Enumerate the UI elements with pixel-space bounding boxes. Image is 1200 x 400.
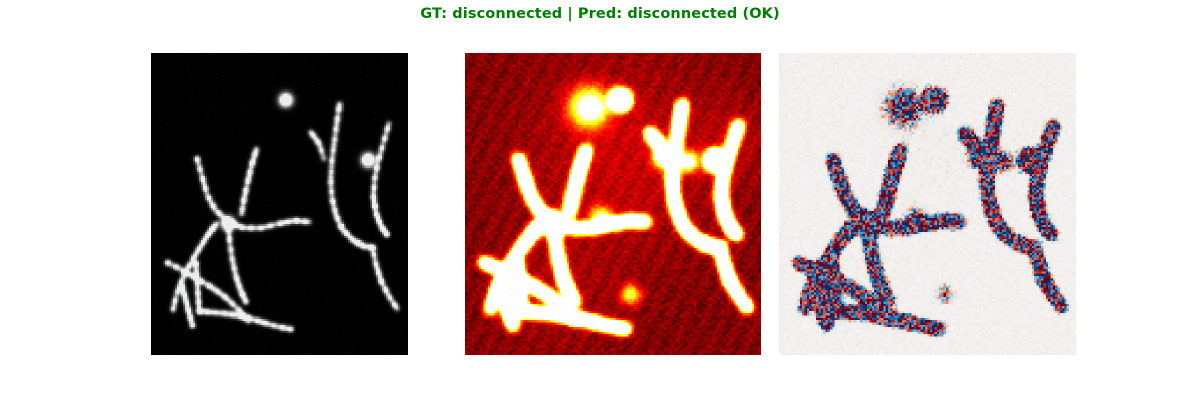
panel-input-image: t=1/8 [151, 53, 408, 355]
figure-canvas: GT: disconnected | Pred: disconnected (O… [0, 0, 1200, 400]
gradient-signed-heatmap [779, 53, 1076, 355]
panel-gradient-magnitude: |grad| (magnitude) [465, 53, 761, 355]
input-image-heatmap [151, 53, 408, 355]
figure-suptitle: GT: disconnected | Pred: disconnected (O… [0, 6, 1200, 22]
panel-gradient-signed: grad (signed: red=+, blue=-) [779, 53, 1076, 355]
gradient-magnitude-heatmap [465, 53, 761, 355]
